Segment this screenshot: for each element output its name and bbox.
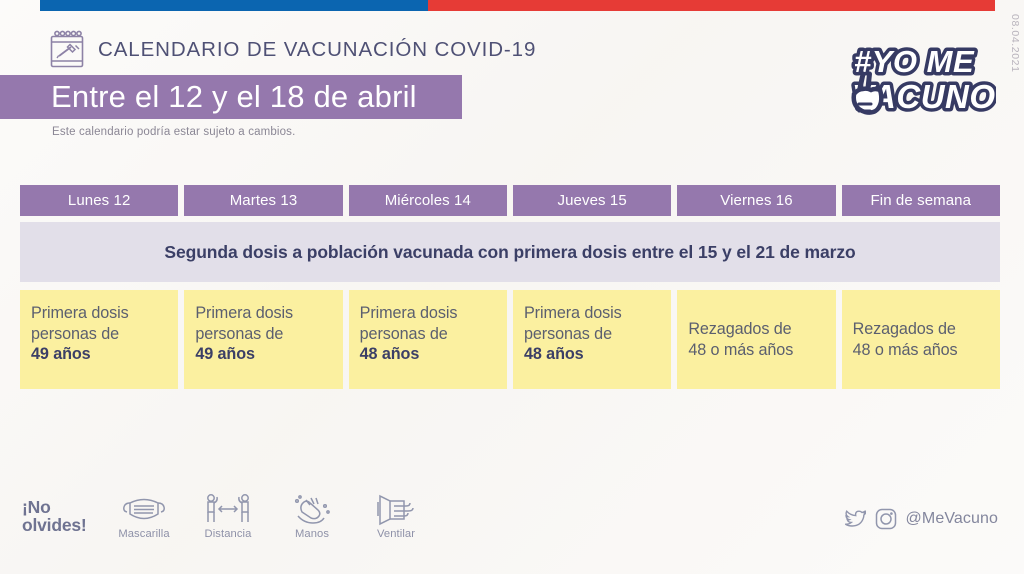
measure-label: Ventilar: [377, 528, 415, 540]
dose-card-tuesday: Primera dosis personas de 49 años: [184, 290, 342, 389]
measure-manos: Manos: [281, 492, 343, 540]
dose-card-monday: Primera dosis personas de 49 años: [20, 290, 178, 389]
dose-card-highlight: 49 años: [195, 345, 255, 363]
instagram-icon[interactable]: [874, 507, 898, 531]
dose-card-wednesday: Primera dosis personas de 48 años: [349, 290, 507, 389]
page-header: CALENDARIO DE VACUNACIÓN COVID-19 Entre …: [0, 22, 1024, 142]
measure-mascarilla: Mascarilla: [113, 492, 175, 540]
dose-card-line1: Primera dosis: [195, 304, 293, 322]
date-range-band: Entre el 12 y el 18 de abril: [0, 75, 462, 119]
dose-card-body: Primera dosis personas de 48 años: [524, 303, 660, 365]
dose-card-thursday: Primera dosis personas de 48 años: [513, 290, 671, 389]
dose-card-line1: Rezagados de: [688, 320, 791, 338]
svg-text:#YO ME: #YO ME: [854, 44, 975, 79]
dose-card-line1: Primera dosis: [360, 304, 458, 322]
dose-card-weekend: Rezagados de 48 o más años: [842, 290, 1000, 389]
flag-accent-bar: [40, 0, 995, 11]
measure-label: Distancia: [205, 528, 252, 540]
social-links[interactable]: @MeVacuno: [840, 507, 998, 531]
yo-me-vacuno-logo: #YO ME VACUNO #YO ME VACUNO: [846, 32, 996, 124]
dose-card-highlight: 48 años: [360, 345, 420, 363]
measure-ventilar: Ventilar: [365, 492, 427, 540]
dose-card-highlight: 49 años: [31, 345, 91, 363]
vaccination-calendar: Lunes 12 Martes 13 Miércoles 14 Jueves 1…: [20, 185, 1000, 389]
reminder-heading: ¡No olvides!: [22, 498, 87, 534]
dose-card-friday: Rezagados de 48 o más años: [677, 290, 835, 389]
second-dose-banner: Segunda dosis a población vacunada con p…: [20, 222, 1000, 282]
day-header-friday: Viernes 16: [677, 185, 835, 216]
dose-card-line2: personas de: [31, 325, 119, 343]
disclaimer-note: Este calendario podría estar sujeto a ca…: [52, 126, 295, 138]
dose-card-line2: 48 o más años: [853, 341, 958, 359]
dose-card-line2: personas de: [195, 325, 283, 343]
dose-card-row: Primera dosis personas de 49 años Primer…: [20, 290, 1000, 389]
dose-card-line2: personas de: [524, 325, 612, 343]
flag-red-segment: [428, 0, 995, 11]
social-distance-icon: [202, 492, 254, 526]
kicker-text: CALENDARIO DE VACUNACIÓN COVID-19: [98, 38, 536, 62]
ventilate-window-icon: [372, 492, 420, 526]
dose-card-body: Primera dosis personas de 48 años: [360, 303, 496, 365]
page-footer: ¡No olvides! Mascarilla: [0, 484, 1024, 574]
measure-distancia: Distancia: [197, 492, 259, 540]
dose-card-line2: personas de: [360, 325, 448, 343]
measure-label: Manos: [295, 528, 329, 540]
day-header-thursday: Jueves 15: [513, 185, 671, 216]
dose-card-body: Rezagados de 48 o más años: [853, 319, 989, 360]
wash-hands-icon: [288, 492, 336, 526]
dose-card-line2: 48 o más años: [688, 341, 793, 359]
dose-card-line1: Rezagados de: [853, 320, 956, 338]
day-header-monday: Lunes 12: [20, 185, 178, 216]
day-header-wednesday: Miércoles 14: [349, 185, 507, 216]
dose-card-body: Primera dosis personas de 49 años: [31, 303, 167, 365]
prevention-measures: Mascarilla: [113, 492, 427, 540]
dose-card-line1: Primera dosis: [31, 304, 129, 322]
second-dose-banner-text: Segunda dosis a población vacunada con p…: [164, 242, 855, 263]
calendar-syringe-icon: [46, 29, 86, 71]
reminder-line1: ¡No: [22, 497, 51, 517]
measure-label: Mascarilla: [118, 528, 169, 540]
page-title: Entre el 12 y el 18 de abril: [51, 79, 417, 115]
day-header-weekend: Fin de semana: [842, 185, 1000, 216]
face-mask-icon: [121, 492, 167, 526]
dose-card-body: Primera dosis personas de 49 años: [195, 303, 331, 365]
dose-card-body: Rezagados de 48 o más años: [688, 319, 824, 360]
day-header-row: Lunes 12 Martes 13 Miércoles 14 Jueves 1…: [20, 185, 1000, 216]
social-handle[interactable]: @MeVacuno: [906, 510, 998, 528]
dose-card-line1: Primera dosis: [524, 304, 622, 322]
day-header-tuesday: Martes 13: [184, 185, 342, 216]
flag-blue-segment: [40, 0, 428, 11]
twitter-bird-icon[interactable]: [840, 507, 866, 531]
kicker-row: CALENDARIO DE VACUNACIÓN COVID-19: [46, 29, 536, 71]
dose-card-highlight: 48 años: [524, 345, 584, 363]
reminder-line2: olvides!: [22, 515, 87, 535]
